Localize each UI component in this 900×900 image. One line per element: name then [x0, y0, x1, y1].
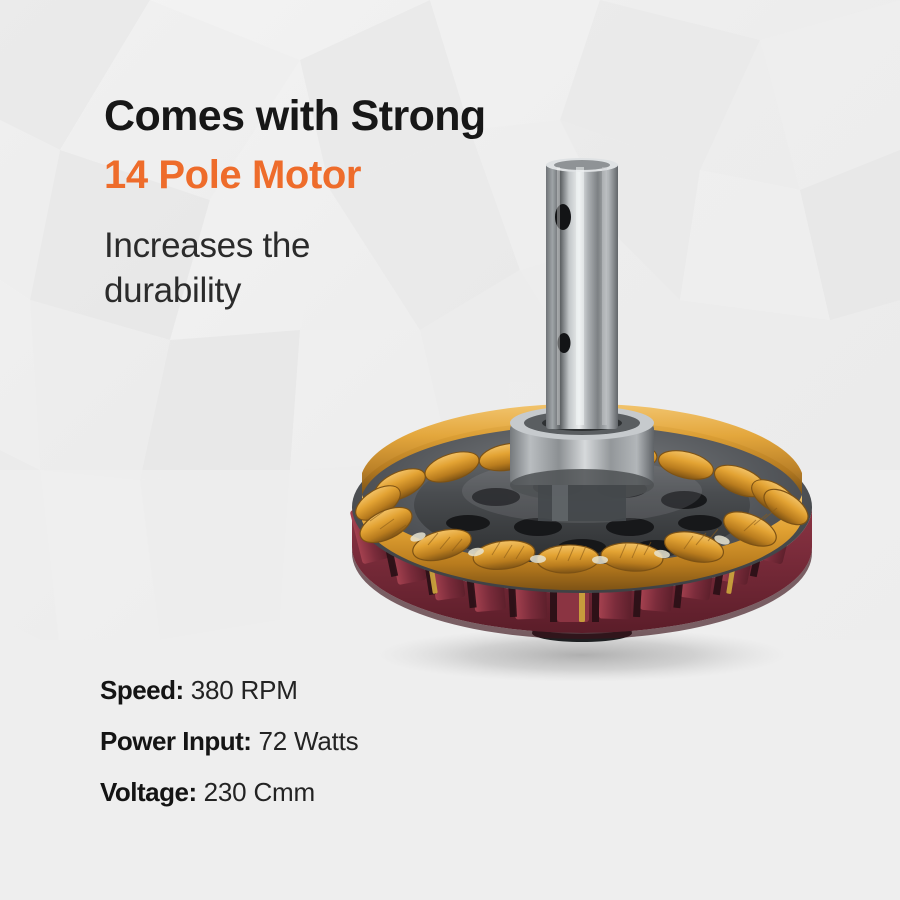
- spec-value-speed: 380 RPM: [191, 675, 298, 706]
- spec-value-voltage: 230 Cmm: [204, 777, 315, 808]
- spec-row-speed: Speed: 380 RPM: [100, 675, 620, 706]
- spec-list: Speed: 380 RPM Power Input: 72 Watts Vol…: [100, 675, 620, 828]
- spec-value-power-input: 72 Watts: [258, 726, 358, 757]
- spec-label-speed: Speed:: [100, 675, 184, 706]
- product-image-motor: [300, 155, 860, 695]
- spec-label-power-input: Power Input:: [100, 726, 251, 757]
- steel-shaft: [546, 158, 618, 429]
- spec-label-voltage: Voltage:: [100, 777, 197, 808]
- spec-row-power-input: Power Input: 72 Watts: [100, 726, 620, 757]
- spec-row-voltage: Voltage: 230 Cmm: [100, 777, 620, 808]
- promo-banner: Comes with Strong 14 Pole Motor Increase…: [0, 0, 900, 900]
- page-title: Comes with Strong: [104, 92, 624, 140]
